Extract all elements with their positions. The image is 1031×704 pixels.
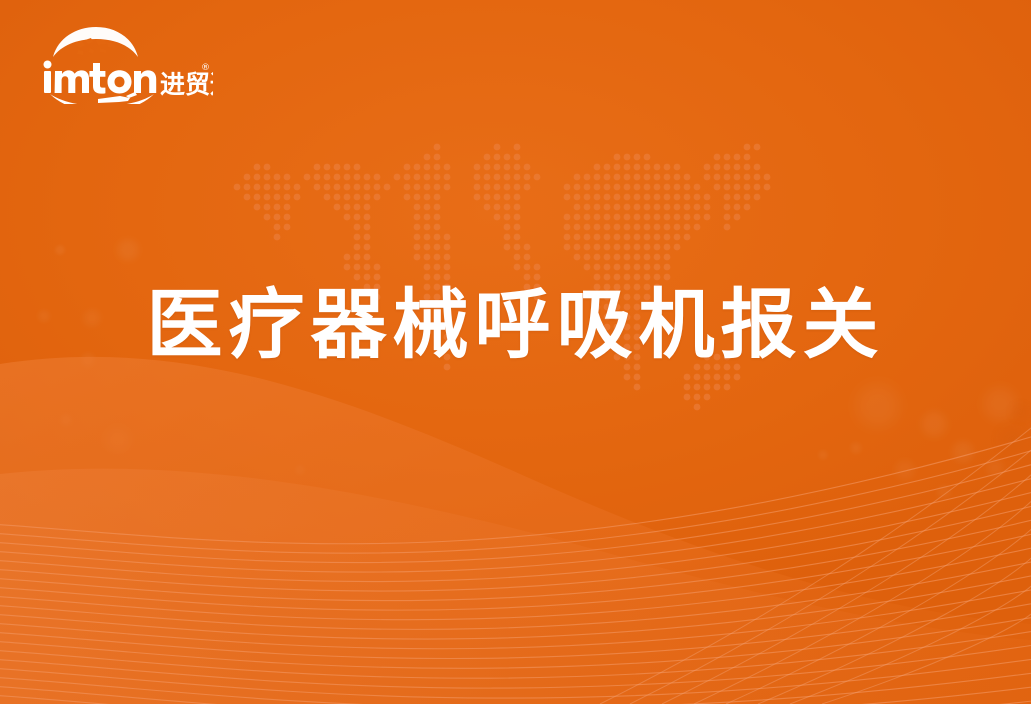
page-title: 医疗器械呼吸机报关 bbox=[0, 278, 1031, 372]
wordmark-imton bbox=[44, 61, 157, 94]
globe-arc-icon bbox=[53, 27, 138, 57]
bokeh-circle bbox=[117, 239, 139, 261]
wave-decoration bbox=[0, 324, 1031, 704]
swoosh-arrow-icon bbox=[50, 92, 154, 104]
brand-logo[interactable]: 进贸通 ® bbox=[38, 24, 213, 104]
banner-root: 进贸通 ® 医疗器械呼吸机报关 bbox=[0, 0, 1031, 704]
logo-chinese-name: 进贸通 bbox=[160, 70, 213, 99]
registered-trademark-icon: ® bbox=[201, 63, 210, 73]
bokeh-circle bbox=[55, 245, 65, 255]
